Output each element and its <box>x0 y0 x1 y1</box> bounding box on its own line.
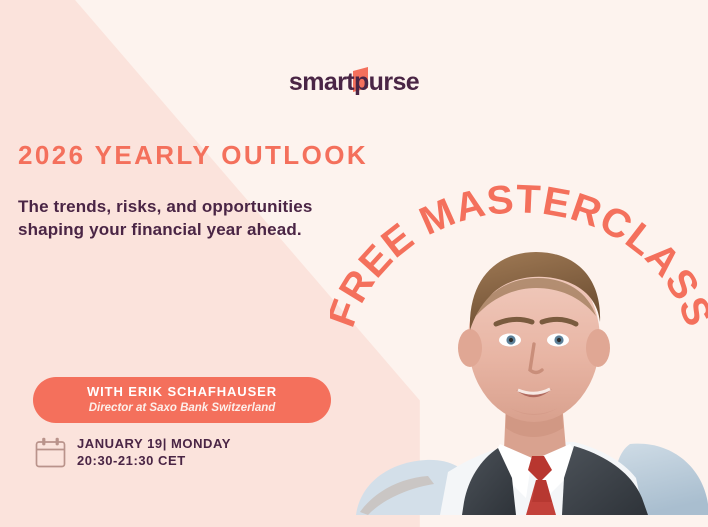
promo-banner: smartpurse 2026 YEARLY OUTLOOK The trend… <box>0 0 708 527</box>
calendar-icon <box>34 436 67 469</box>
speaker-badge: WITH ERIK SCHAFHAUSER Director at Saxo B… <box>33 377 331 423</box>
subtitle: The trends, risks, and opportunities sha… <box>18 195 318 242</box>
event-time: 20:30-21:30 CET <box>77 452 231 469</box>
speaker-photo <box>330 212 708 515</box>
page-title: 2026 YEARLY OUTLOOK <box>18 140 368 171</box>
event-date: JANUARY 19| MONDAY <box>77 435 231 452</box>
brand-logo-text: smartpurse <box>289 68 419 96</box>
brand-logo: smartpurse <box>0 70 708 95</box>
event-datetime: JANUARY 19| MONDAY 20:30-21:30 CET <box>34 435 231 469</box>
speaker-role: Director at Saxo Bank Switzerland <box>89 401 276 416</box>
speaker-name: WITH ERIK SCHAFHAUSER <box>87 384 277 400</box>
